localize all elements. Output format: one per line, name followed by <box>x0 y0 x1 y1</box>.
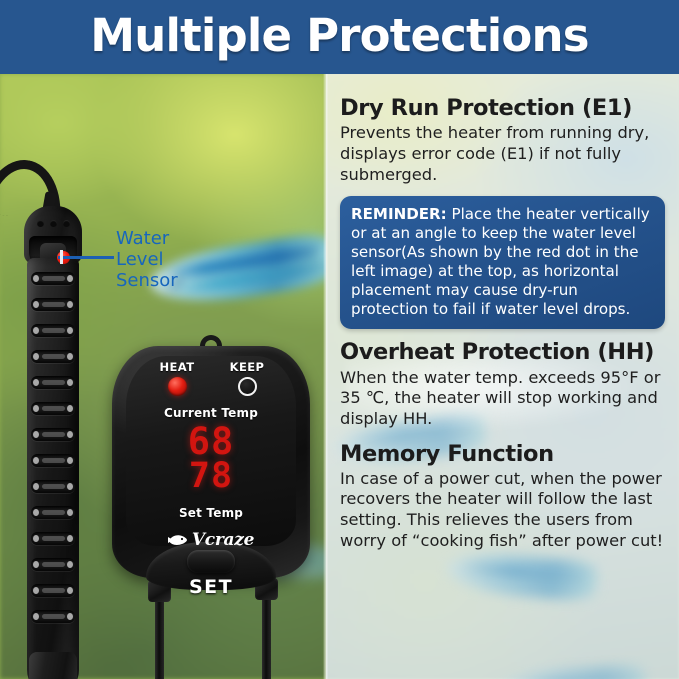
feature-body: When the water temp. exceeds 95°F or 35 … <box>340 368 665 430</box>
feature-title: Memory Function <box>340 442 665 467</box>
heat-indicator-lamp-icon <box>168 377 187 396</box>
callout-label-line-1: Water <box>116 228 178 249</box>
aquarium-heater-rod <box>22 206 84 679</box>
current-temp-label: Current Temp <box>112 406 310 420</box>
cap-vent-hole <box>37 220 44 227</box>
brand-logo: Vcraze <box>112 530 310 550</box>
cap-vent-hole <box>63 220 70 227</box>
water-level-sensor-label: Water Level Sensor <box>116 228 178 292</box>
infographic-page: Multiple Protections <box>0 0 679 679</box>
features-text-panel: Dry Run Protection (E1) Prevents the hea… <box>326 74 679 679</box>
reminder-callout-box: REMINDER: Place the heater vertically or… <box>340 196 665 329</box>
panel-divider <box>323 74 328 679</box>
feature-body: In case of a power cut, when the power r… <box>340 469 665 552</box>
header-banner: Multiple Protections <box>0 0 679 74</box>
reminder-text: REMINDER: Place the heater vertically or… <box>351 205 654 319</box>
heat-indicator: HEAT <box>148 362 206 396</box>
brand-name: Vcraze <box>192 530 254 550</box>
callout-label-line-3: Sensor <box>116 270 178 291</box>
set-temp-value: 78 <box>112 460 310 494</box>
heater-tip <box>29 652 77 679</box>
heat-indicator-label: HEAT <box>148 362 206 374</box>
heater-body <box>27 258 79 679</box>
keep-indicator: KEEP <box>218 362 276 396</box>
features-list: Dry Run Protection (E1) Prevents the hea… <box>326 74 679 679</box>
callout-leader-line <box>58 256 114 259</box>
set-button[interactable] <box>187 550 235 573</box>
feature-body: Prevents the heater from running dry, di… <box>340 123 665 185</box>
feature-memory-function: Memory Function In case of a power cut, … <box>340 442 665 552</box>
current-temp-value: 68 <box>112 424 310 460</box>
keep-indicator-lamp-icon <box>238 377 257 396</box>
set-button-label: SET <box>112 576 310 598</box>
fish-logo-icon <box>168 533 188 547</box>
heater-controller-unit: HEAT KEEP Current Temp 68 78 Set Temp <box>112 346 310 596</box>
led-display: 68 78 <box>112 424 310 494</box>
set-temp-label: Set Temp <box>112 506 310 520</box>
feature-title: Overheat Protection (HH) <box>340 340 665 365</box>
callout-leader-tick <box>60 250 63 264</box>
callout-label-line-2: Level <box>116 249 178 270</box>
page-title: Multiple Protections <box>0 0 679 74</box>
reminder-lead: REMINDER: <box>351 205 447 223</box>
cap-vent-hole <box>50 220 57 227</box>
product-photo-panel: Water Level Sensor HEAT KEEP Current Tem… <box>0 74 326 679</box>
feature-title: Dry Run Protection (E1) <box>340 96 665 121</box>
keep-indicator-label: KEEP <box>218 362 276 374</box>
feature-dry-run-protection: Dry Run Protection (E1) Prevents the hea… <box>340 96 665 185</box>
feature-overheat-protection: Overheat Protection (HH) When the water … <box>340 340 665 429</box>
